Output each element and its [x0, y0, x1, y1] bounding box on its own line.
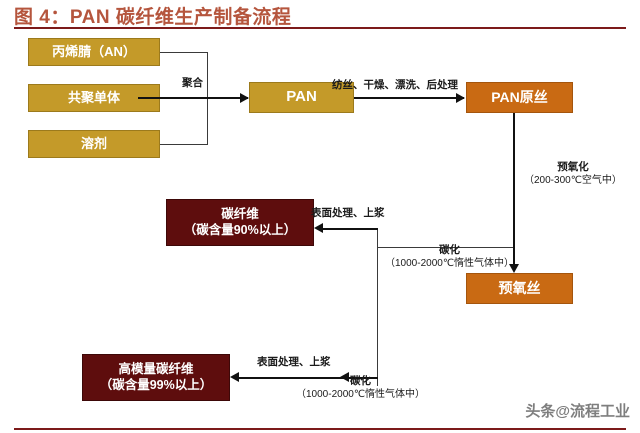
edge-label-spinning: 纺丝、干燥、漂洗、后处理 — [332, 78, 458, 92]
edge-label-carbonization-1: 碳化 （1000-2000℃惰性气体中） — [385, 243, 514, 271]
figure-canvas: 图 4：PAN 碳纤维生产制备流程 丙烯腈（AN） 共聚单体 溶剂 聚合 PAN… — [0, 0, 640, 433]
node-carbon-fiber[interactable]: 碳纤维 （碳含量90%以上） — [166, 199, 314, 246]
node-carbon-fiber-line2: （碳含量90%以上） — [184, 223, 297, 239]
arrowhead-to-high-modulus — [230, 372, 239, 382]
node-solvent[interactable]: 溶剂 — [28, 130, 160, 158]
node-high-modulus-line1: 高模量碳纤维 — [118, 362, 193, 378]
node-acrylonitrile[interactable]: 丙烯腈（AN） — [28, 38, 160, 66]
title-divider — [14, 27, 626, 29]
edge-label-surface-treatment-2: 表面处理、上浆 — [257, 355, 331, 369]
edge-label-carbonization-1-condition: （1000-2000℃惰性气体中） — [385, 257, 514, 271]
connector-pan-to-precursor — [354, 97, 464, 99]
connector-carbonization1-to-carbon-fiber — [322, 228, 378, 230]
connector-acrylonitrile-to-bus — [160, 52, 207, 53]
node-high-modulus-line2: （碳含量99%以上） — [100, 378, 213, 394]
connector-solvent-to-bus — [160, 144, 207, 145]
connector-vertical-bus-middle — [377, 228, 378, 386]
node-pan-label: PAN — [286, 88, 317, 107]
edge-label-preoxidation-name: 预氧化 — [524, 160, 622, 174]
node-acrylonitrile-label: 丙烯腈（AN） — [52, 44, 136, 60]
figure-title: 图 4：PAN 碳纤维生产制备流程 — [14, 2, 291, 29]
edge-label-carbonization-1-name: 碳化 — [385, 243, 514, 257]
edge-label-carbonization-2-name: 碳化 — [296, 374, 425, 388]
edge-label-carbonization-2: 碳化 （1000-2000℃惰性气体中） — [296, 374, 425, 402]
watermark: 头条@流程工业 — [525, 400, 630, 421]
node-carbon-fiber-line1: 碳纤维 — [221, 207, 259, 223]
node-solvent-label: 溶剂 — [81, 136, 107, 152]
edge-label-preoxidation: 预氧化 （200-300℃空气中） — [524, 160, 622, 188]
bottom-divider — [14, 428, 626, 430]
node-preoxidized-fiber[interactable]: 预氧丝 — [466, 273, 573, 304]
edge-label-preoxidation-condition: （200-300℃空气中） — [524, 174, 622, 188]
arrowhead-to-carbon-fiber — [314, 223, 323, 233]
connector-input-bus — [207, 52, 208, 145]
node-pan-precursor-label: PAN原丝 — [491, 89, 548, 107]
node-high-modulus-carbon-fiber[interactable]: 高模量碳纤维 （碳含量99%以上） — [82, 354, 230, 401]
node-pan-precursor[interactable]: PAN原丝 — [466, 82, 573, 113]
edge-label-carbonization-2-condition: （1000-2000℃惰性气体中） — [296, 388, 425, 402]
arrowhead-to-pan — [240, 93, 249, 103]
edge-label-surface-treatment-1: 表面处理、上浆 — [311, 206, 385, 220]
node-comonomer-label: 共聚单体 — [68, 90, 120, 106]
edge-label-polymerization: 聚合 — [182, 76, 203, 90]
node-preoxidized-fiber-label: 预氧丝 — [499, 280, 541, 298]
arrowhead-to-precursor — [456, 93, 465, 103]
connector-bus-to-pan — [138, 97, 248, 99]
